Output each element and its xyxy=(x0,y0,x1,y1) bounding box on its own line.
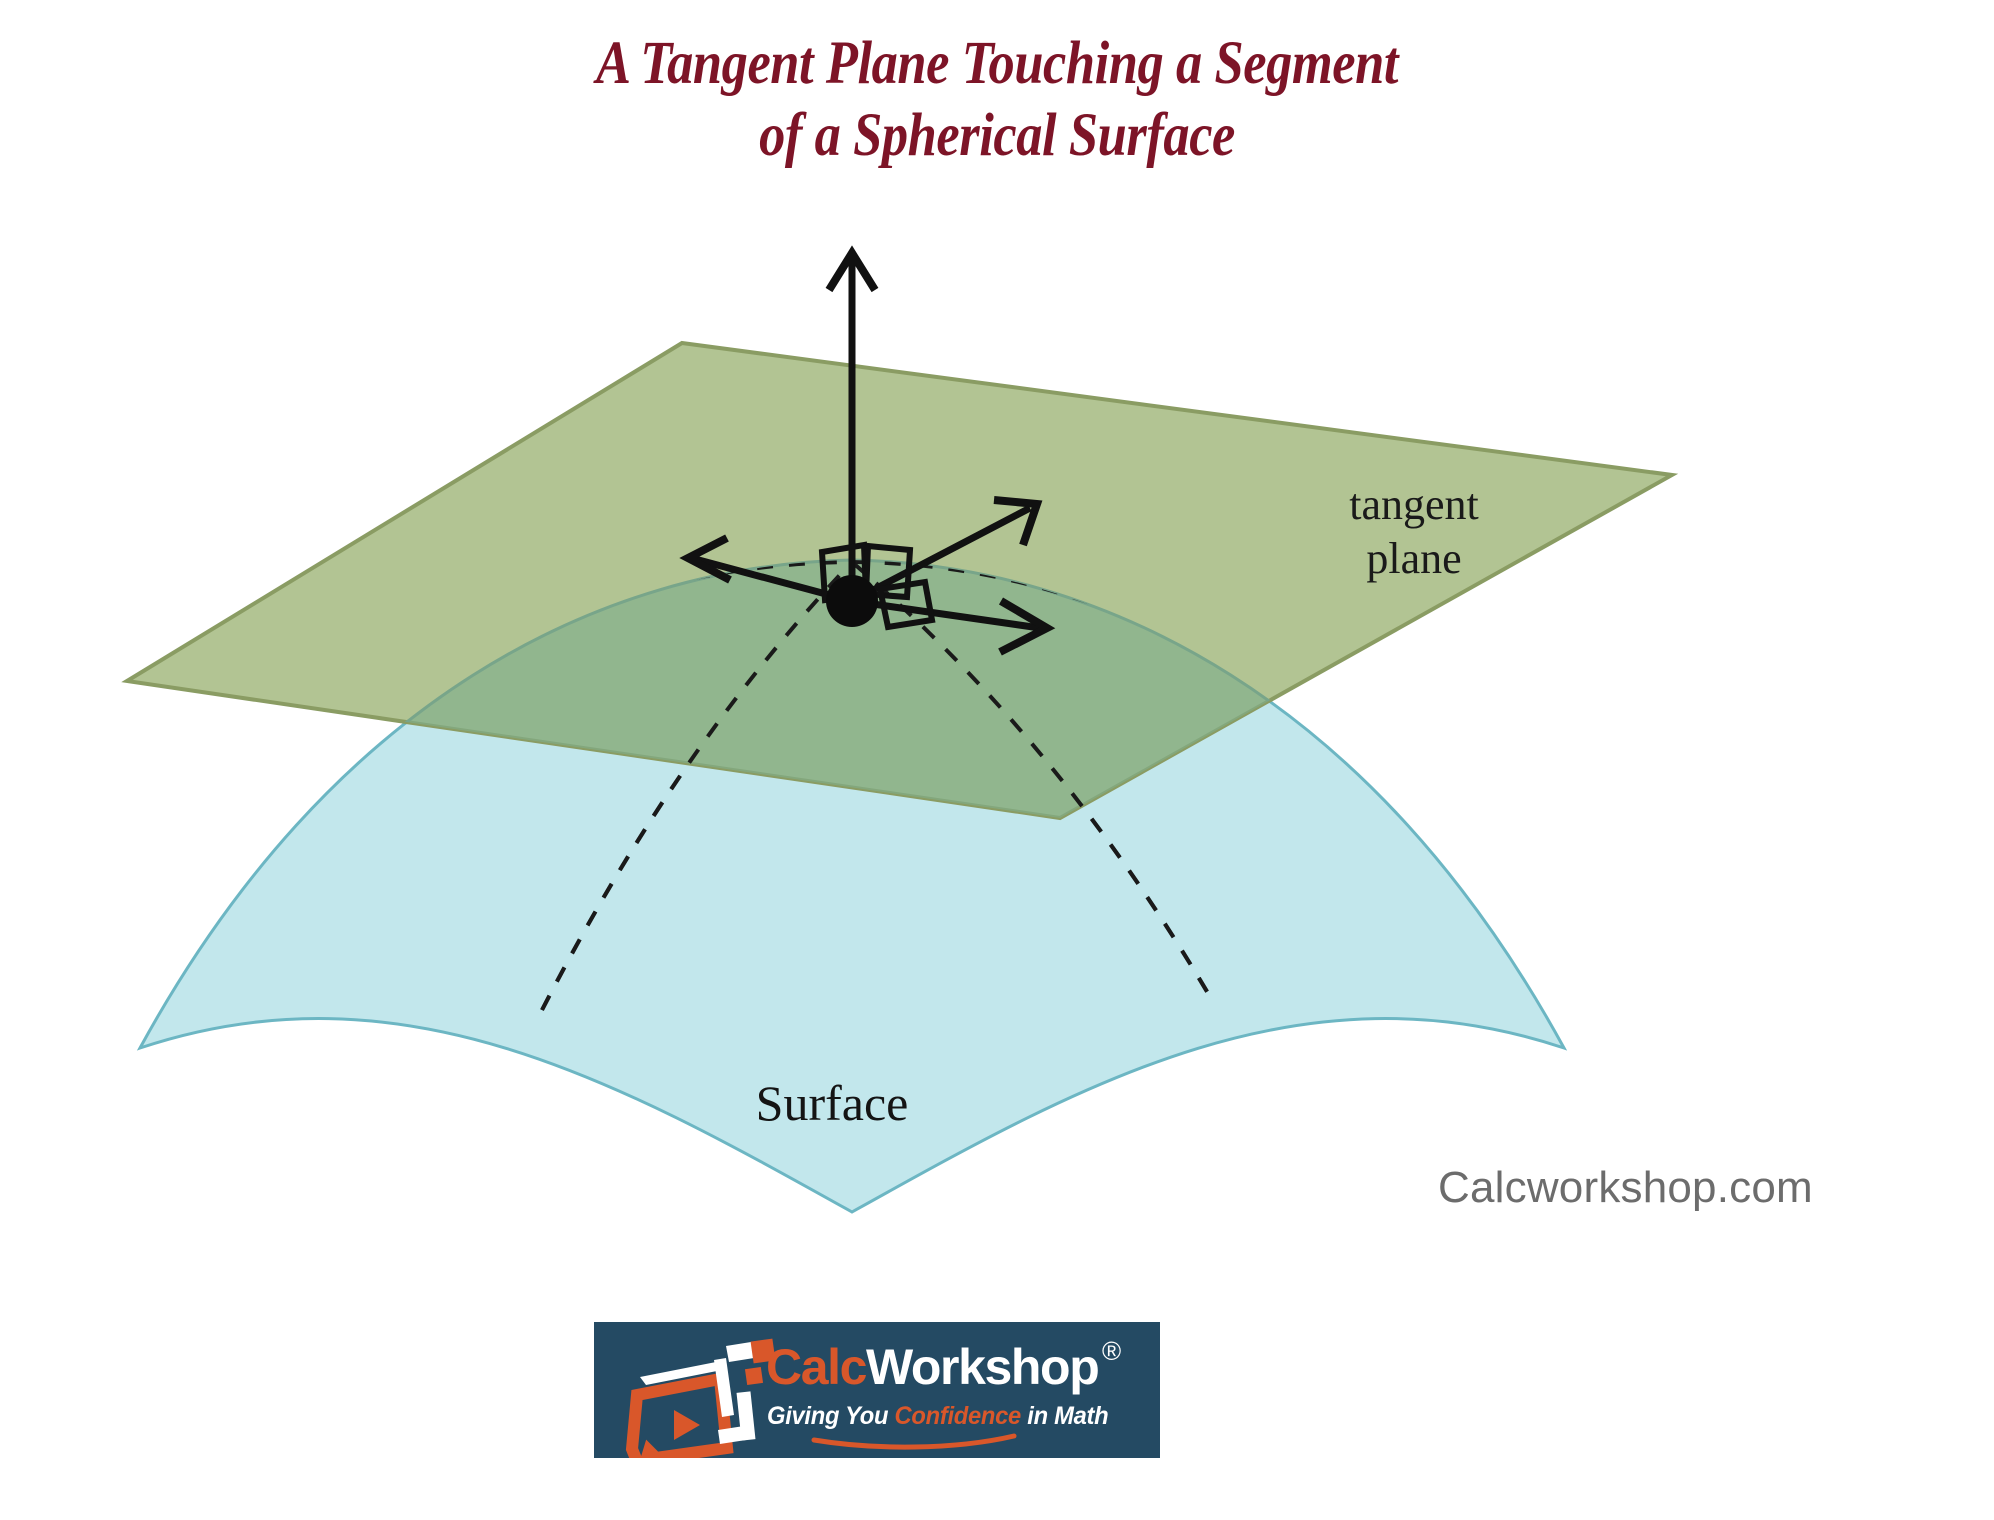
logo-tagline: Giving You Confidence in Math xyxy=(767,1402,1108,1431)
logo-wordmark: CalcWorkshop xyxy=(766,1342,1098,1392)
logo-registered-mark: ® xyxy=(1102,1336,1121,1367)
logo-screen-icon xyxy=(632,1379,727,1458)
logo-word-workshop: Workshop xyxy=(866,1339,1098,1395)
logo-tagline-part-1: Giving You xyxy=(767,1402,895,1430)
tangent-plane-figure: tangent plane Surface xyxy=(0,0,1994,1520)
tangent-plane-label-line-2: plane xyxy=(1366,534,1461,583)
logo-tagline-part-3: in Math xyxy=(1021,1402,1108,1430)
diagram-canvas: A Tangent Plane Touching a Segment of a … xyxy=(0,0,1994,1520)
calcworkshop-logo[interactable]: CalcWorkshop ® Giving You Confidence in … xyxy=(594,1322,1160,1458)
logo-underline-swash xyxy=(814,1436,1014,1447)
tangency-point xyxy=(826,575,878,627)
surface-label: Surface xyxy=(756,1075,909,1131)
tangent-plane-label-line-1: tangent xyxy=(1349,480,1479,529)
logo-tagline-part-2: Confidence xyxy=(895,1402,1021,1430)
logo-word-calc: Calc xyxy=(766,1339,866,1395)
site-watermark: Calcworkshop.com xyxy=(1438,1163,1813,1213)
